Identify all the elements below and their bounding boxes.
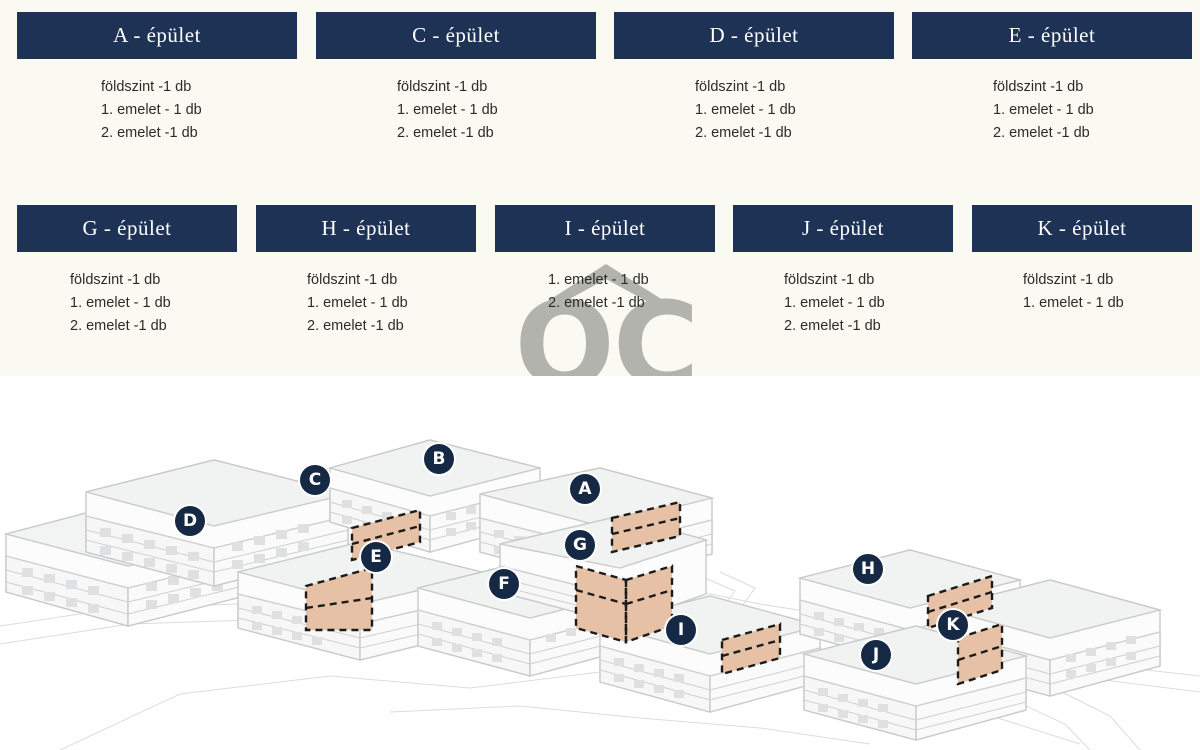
unit-line: 1. emelet - 1 db — [397, 99, 596, 122]
unit-line: 1. emelet - 1 db — [993, 99, 1192, 122]
unit-line: 2. emelet -1 db — [397, 122, 596, 145]
map-marker-k[interactable]: K — [938, 610, 968, 640]
map-marker-h[interactable]: H — [853, 554, 883, 584]
building-card-h-units: földszint -1 db 1. emelet - 1 db 2. emel… — [256, 252, 476, 338]
building-card-g[interactable]: G - épület földszint -1 db 1. emelet - 1… — [17, 205, 237, 338]
unit-line: földszint -1 db — [70, 269, 237, 292]
map-marker-i-label: I — [678, 620, 684, 640]
map-marker-i[interactable]: I — [666, 615, 696, 645]
building-card-i-title: I - épület — [495, 205, 715, 252]
building-card-h-title: H - épület — [256, 205, 476, 252]
isometric-site-plan — [0, 376, 1200, 750]
building-card-h[interactable]: H - épület földszint -1 db 1. emelet - 1… — [256, 205, 476, 338]
building-card-i-units: 1. emelet - 1 db 2. emelet -1 db — [495, 252, 715, 315]
unit-line: földszint -1 db — [784, 269, 953, 292]
building-card-d-title: D - épület — [614, 12, 894, 59]
unit-line: 1. emelet - 1 db — [695, 99, 894, 122]
building-legend-panel: OC OTTHON CENTRUM A - épület földszint -… — [0, 0, 1200, 376]
unit-line: földszint -1 db — [307, 269, 476, 292]
map-marker-f-label: F — [498, 574, 510, 594]
unit-line: földszint -1 db — [695, 76, 894, 99]
unit-line: 1. emelet - 1 db — [548, 269, 715, 292]
map-marker-d-label: D — [183, 511, 197, 531]
unit-line: 1. emelet - 1 db — [784, 292, 953, 315]
unit-line: földszint -1 db — [397, 76, 596, 99]
unit-line: 1. emelet - 1 db — [101, 99, 297, 122]
building-card-g-units: földszint -1 db 1. emelet - 1 db 2. emel… — [17, 252, 237, 338]
building-card-e-units: földszint -1 db 1. emelet - 1 db 2. emel… — [912, 59, 1192, 145]
unit-line: 2. emelet -1 db — [993, 122, 1192, 145]
map-marker-e[interactable]: E — [361, 542, 391, 572]
building-card-d[interactable]: D - épület földszint -1 db 1. emelet - 1… — [614, 12, 894, 145]
building-card-e-title: E - épület — [912, 12, 1192, 59]
map-marker-g-label: G — [573, 535, 587, 555]
building-card-g-title: G - épület — [17, 205, 237, 252]
map-marker-f[interactable]: F — [489, 569, 519, 599]
unit-line: 2. emelet -1 db — [695, 122, 894, 145]
building-card-a-title: A - épület — [17, 12, 297, 59]
unit-line: 2. emelet -1 db — [548, 292, 715, 315]
building-card-a[interactable]: A - épület földszint -1 db 1. emelet - 1… — [17, 12, 297, 145]
unit-line: földszint -1 db — [993, 76, 1192, 99]
building-card-j-title: J - épület — [733, 205, 953, 252]
map-marker-e-label: E — [370, 547, 382, 567]
map-marker-c[interactable]: C — [300, 465, 330, 495]
map-marker-h-label: H — [861, 559, 875, 579]
unit-line: 2. emelet -1 db — [101, 122, 297, 145]
building-card-j-units: földszint -1 db 1. emelet - 1 db 2. emel… — [733, 252, 953, 338]
unit-line: földszint -1 db — [101, 76, 297, 99]
unit-line: 2. emelet -1 db — [784, 315, 953, 338]
unit-line: 1. emelet - 1 db — [1023, 292, 1192, 315]
building-card-d-units: földszint -1 db 1. emelet - 1 db 2. emel… — [614, 59, 894, 145]
building-card-c[interactable]: C - épület földszint -1 db 1. emelet - 1… — [316, 12, 596, 145]
building-card-e[interactable]: E - épület földszint -1 db 1. emelet - 1… — [912, 12, 1192, 145]
building-card-a-units: földszint -1 db 1. emelet - 1 db 2. emel… — [17, 59, 297, 145]
map-marker-j[interactable]: J — [861, 640, 891, 670]
map-marker-k-label: K — [946, 615, 959, 635]
unit-line: 2. emelet -1 db — [307, 315, 476, 338]
map-marker-a-label: A — [578, 479, 591, 499]
unit-line: 2. emelet -1 db — [70, 315, 237, 338]
map-marker-j-label: J — [873, 645, 879, 665]
map-marker-g[interactable]: G — [565, 530, 595, 560]
building-card-c-units: földszint -1 db 1. emelet - 1 db 2. emel… — [316, 59, 596, 145]
site-plan-illustration[interactable]: D C B A E G F I H J K — [0, 376, 1200, 750]
map-marker-b[interactable]: B — [424, 444, 454, 474]
unit-line: 1. emelet - 1 db — [307, 292, 476, 315]
building-card-c-title: C - épület — [316, 12, 596, 59]
building-card-j[interactable]: J - épület földszint -1 db 1. emelet - 1… — [733, 205, 953, 338]
map-marker-a[interactable]: A — [570, 474, 600, 504]
building-card-k[interactable]: K - épület földszint -1 db 1. emelet - 1… — [972, 205, 1192, 315]
map-marker-d[interactable]: D — [175, 506, 205, 536]
unit-line: 1. emelet - 1 db — [70, 292, 237, 315]
site-plan-page: OC OTTHON CENTRUM A - épület földszint -… — [0, 0, 1200, 750]
map-marker-b-label: B — [433, 449, 446, 469]
building-card-k-units: földszint -1 db 1. emelet - 1 db — [972, 252, 1192, 315]
unit-line: földszint -1 db — [1023, 269, 1192, 292]
building-card-i[interactable]: I - épület 1. emelet - 1 db 2. emelet -1… — [495, 205, 715, 315]
building-card-k-title: K - épület — [972, 205, 1192, 252]
map-marker-c-label: C — [309, 470, 321, 490]
